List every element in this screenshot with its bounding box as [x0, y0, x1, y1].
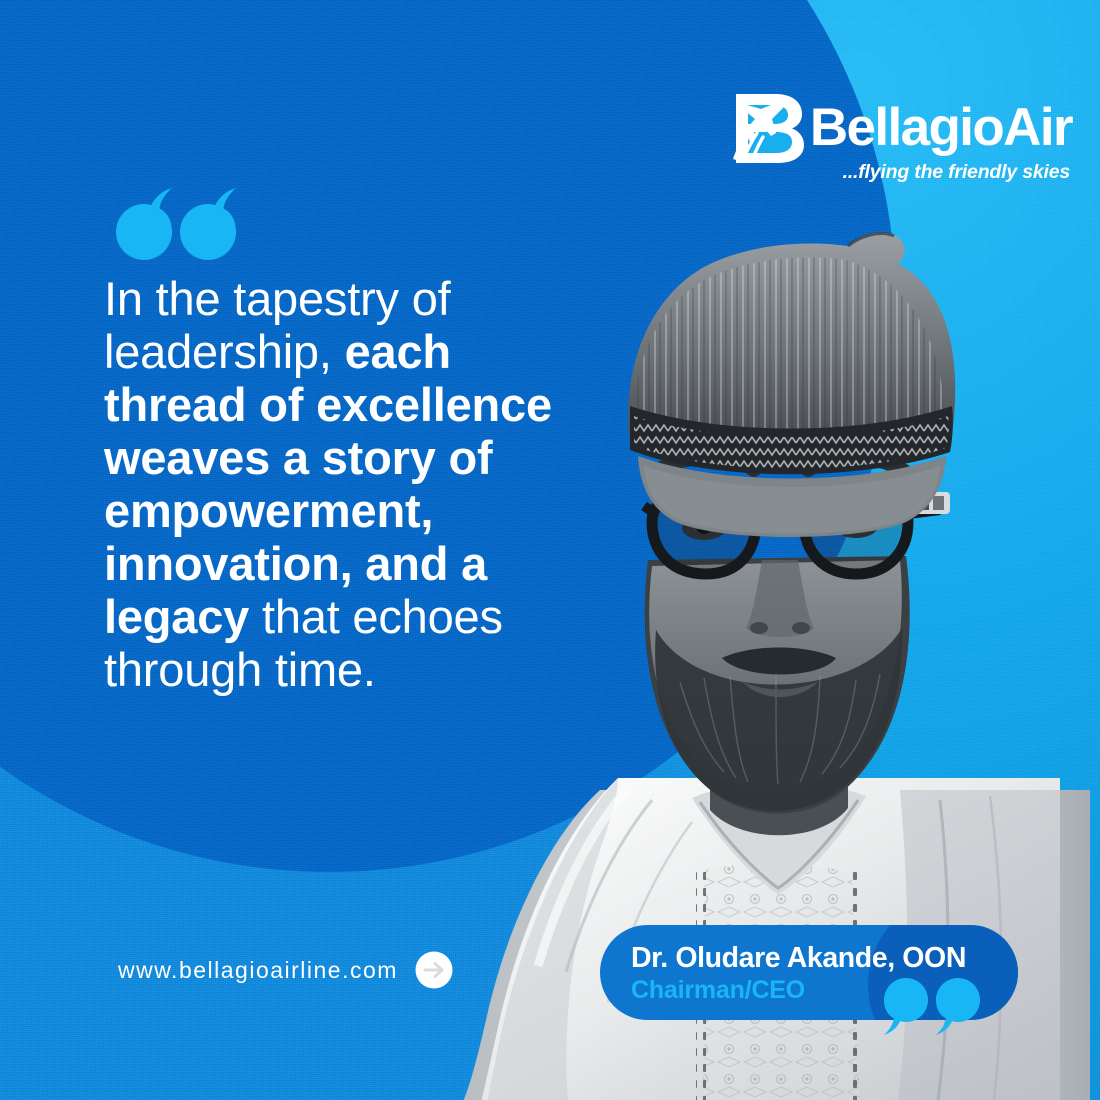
website-url-text: www.bellagioairline.com: [118, 957, 398, 984]
website-link[interactable]: www.bellagioairline.com: [118, 950, 454, 990]
quote-card: In the tapestry of leadership, each thre…: [0, 0, 1100, 1100]
attribution-name: Dr. Oludare Akande, OON: [631, 941, 1018, 975]
logo-wordmark: BellagioAir: [810, 100, 1072, 156]
brand-logo: BellagioAir ...flying the friendly skies: [730, 92, 1072, 184]
opening-quote-mark-icon: [116, 188, 236, 260]
arrow-right-circle-icon[interactable]: [414, 950, 454, 990]
bellagio-b-airplane-logo-icon: [730, 92, 816, 164]
logo-row: BellagioAir: [730, 92, 1072, 164]
logo-tagline: ...flying the friendly skies: [843, 161, 1070, 184]
closing-quote-mark-icon: [884, 978, 980, 1042]
